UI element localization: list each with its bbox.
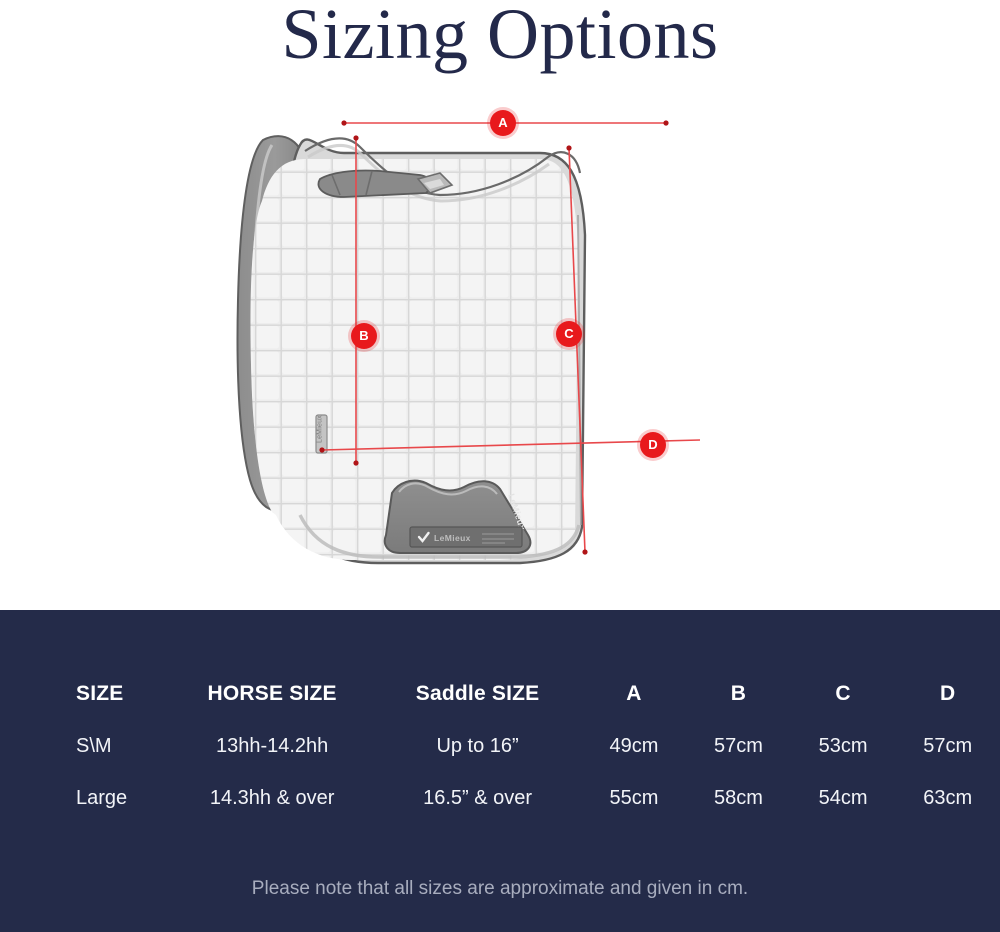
size-table-body: S\M 13hh-14.2hh Up to 16” 49cm 57cm 53cm… <box>0 720 1000 824</box>
column-header-horse-size: HORSE SIZE <box>171 668 374 720</box>
cell-saddle-size: 16.5” & over <box>374 772 582 824</box>
page-title-area: Sizing Options <box>0 0 1000 86</box>
column-header-b: B <box>686 668 791 720</box>
cell-horse-size: 13hh-14.2hh <box>171 720 374 772</box>
cell-c: 53cm <box>791 720 896 772</box>
cell-b: 57cm <box>686 720 791 772</box>
cell-b: 58cm <box>686 772 791 824</box>
cell-saddle-size: Up to 16” <box>374 720 582 772</box>
cell-horse-size: 14.3hh & over <box>171 772 374 824</box>
page-title: Sizing Options <box>0 0 1000 82</box>
column-header-c: C <box>791 668 896 720</box>
saddle-pad-illustration: LeMieux LeMieux LeMieux <box>0 95 1000 610</box>
svg-text:LeMieux: LeMieux <box>317 415 324 443</box>
saddle-pad-diagram: LeMieux LeMieux LeMieux <box>0 95 1000 610</box>
side-label-tab: LeMieux <box>316 415 327 453</box>
table-row: S\M 13hh-14.2hh Up to 16” 49cm 57cm 53cm… <box>0 720 1000 772</box>
column-header-d: D <box>895 668 1000 720</box>
cell-a: 55cm <box>582 772 687 824</box>
sizing-options-page: Sizing Options <box>0 0 1000 932</box>
cell-d: 63cm <box>895 772 1000 824</box>
column-header-a: A <box>582 668 687 720</box>
size-table-head: SIZE HORSE SIZE Saddle SIZE A B C D <box>0 668 1000 720</box>
measurement-badge-c[interactable]: C <box>556 321 582 347</box>
column-header-size: SIZE <box>0 668 171 720</box>
measurement-badge-d[interactable]: D <box>640 432 666 458</box>
size-table: SIZE HORSE SIZE Saddle SIZE A B C D S\M … <box>0 668 1000 824</box>
table-header-row: SIZE HORSE SIZE Saddle SIZE A B C D <box>0 668 1000 720</box>
cell-size: Large <box>0 772 171 824</box>
cell-c: 54cm <box>791 772 896 824</box>
svg-text:LeMieux: LeMieux <box>434 533 471 543</box>
measurement-badge-b[interactable]: B <box>351 323 377 349</box>
pad-wither-strap <box>318 170 430 197</box>
column-header-saddle-size: Saddle SIZE <box>374 668 582 720</box>
cell-d: 57cm <box>895 720 1000 772</box>
cell-a: 49cm <box>582 720 687 772</box>
cell-size: S\M <box>0 720 171 772</box>
measurement-badge-a[interactable]: A <box>490 110 516 136</box>
size-table-panel: SIZE HORSE SIZE Saddle SIZE A B C D S\M … <box>0 610 1000 932</box>
sizing-footnote: Please note that all sizes are approxima… <box>0 878 1000 900</box>
table-row: Large 14.3hh & over 16.5” & over 55cm 58… <box>0 772 1000 824</box>
